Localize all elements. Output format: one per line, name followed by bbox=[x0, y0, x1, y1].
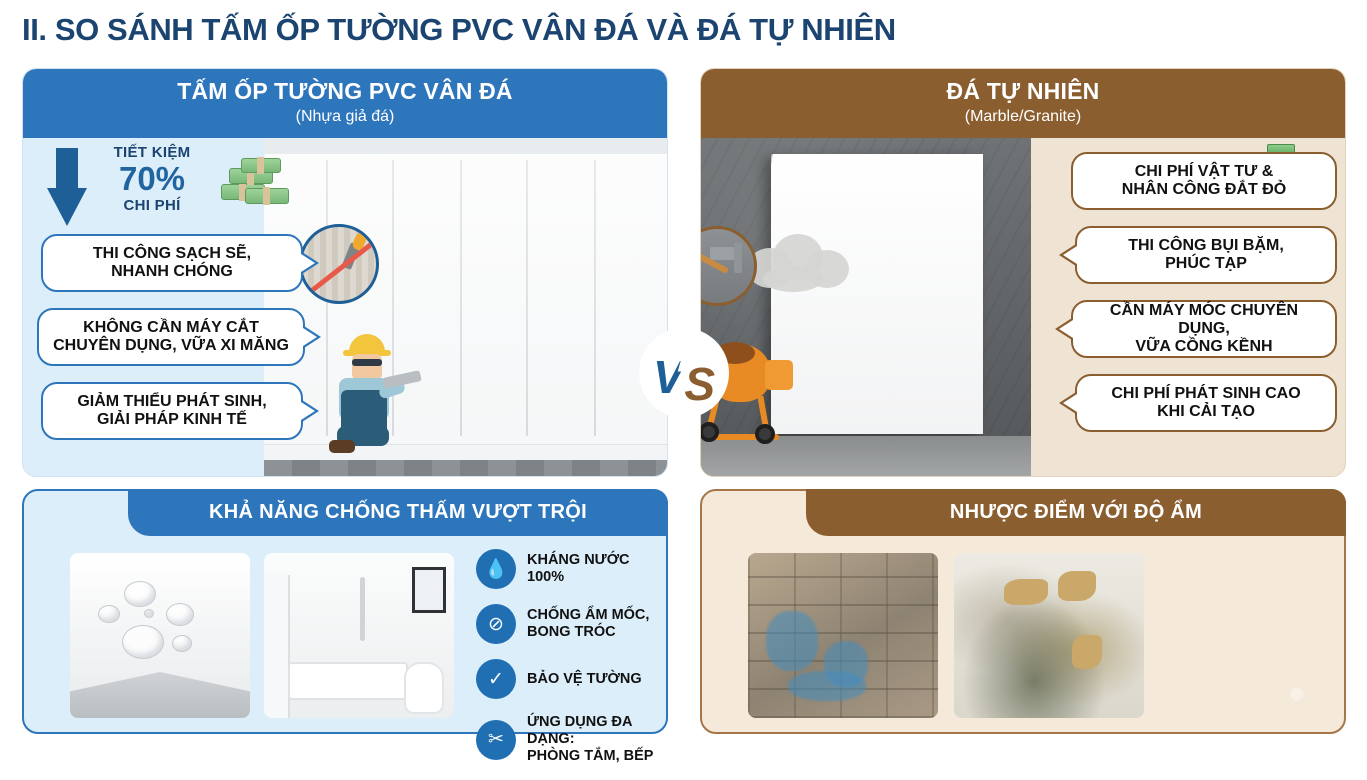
pvc-panel: TẤM ỐP TƯỜNG PVC VÂN ĐÁ (Nhựa giả đá) TI… bbox=[22, 68, 668, 477]
ceiling-strip bbox=[264, 138, 667, 154]
arrow-down-icon bbox=[47, 148, 87, 226]
pvc-bubble-3[interactable]: GIẢM THIỂU PHÁT SINH, GIẢI PHÁP KINH TẾ bbox=[41, 382, 303, 440]
feature-line1: KHÁNG NƯỚC 100% bbox=[527, 552, 666, 586]
pvc-bubble-3-line2: GIẢI PHÁP KINH TẾ bbox=[77, 411, 266, 429]
stone-bubble-4-line1: CHI PHÍ PHÁT SINH CAO bbox=[1111, 385, 1300, 403]
list-item[interactable]: ✂ ỨNG DỤNG ĐA DẠNG: PHÒNG TẮM, BẾP bbox=[476, 714, 666, 765]
vs-letter-s: S bbox=[684, 357, 715, 411]
anti-mold-icon: ⊘ bbox=[476, 604, 516, 644]
multi-use-icon: ✂ bbox=[476, 720, 516, 760]
pvc-bubble-2-line1: KHÔNG CẦN MÁY CẮT bbox=[53, 319, 289, 337]
worker-installing-icon bbox=[323, 334, 409, 454]
stone-header-subtitle: (Marble/Granite) bbox=[701, 106, 1345, 128]
stone-bubble-3[interactable]: CẦN MÁY MÓC CHUYÊN DỤNG, VỮA CỒNG KỀNH bbox=[1071, 300, 1337, 358]
marble-bathroom-photo bbox=[264, 553, 454, 718]
shield-check-icon: ✓ bbox=[476, 659, 516, 699]
stone-panel: ĐÁ TỰ NHIÊN (Marble/Granite) CH bbox=[700, 68, 1346, 477]
stone-bubble-4[interactable]: CHI PHÍ PHÁT SINH CAO KHI CẢI TẠO bbox=[1075, 374, 1337, 432]
list-item[interactable]: ✓ BẢO VỆ TƯỜNG bbox=[476, 659, 666, 699]
pvc-header-subtitle: (Nhựa giả đá) bbox=[23, 106, 667, 128]
stone-bubble-1-line2: NHÂN CÔNG ĐẮT ĐỎ bbox=[1122, 181, 1286, 199]
feature-line2: PHÒNG TẮM, BẾP bbox=[527, 748, 666, 765]
stone-bubble-1[interactable]: CHI PHÍ VẬT TƯ & NHÂN CÔNG ĐẮT ĐỎ bbox=[1071, 152, 1337, 210]
pvc-waterproof-panel: KHẢ NĂNG CHỐNG THẤM VƯỢT TRỘI 💧 KHÁNG NƯ… bbox=[22, 489, 668, 734]
efflorescence-brick-wall-photo bbox=[748, 553, 938, 718]
list-item[interactable]: ⊘ CHỐNG ẨM MỐC, BONG TRÓC bbox=[476, 604, 666, 644]
pvc-feature-list: 💧 KHÁNG NƯỚC 100% ⊘ CHỐNG ẨM MỐC, BONG T… bbox=[476, 549, 666, 780]
stone-moisture-panel: NHƯỢC ĐIỂM VỚI ĐỘ ẨM 💧 DỄ BỊ THẤM NƯỚC, … bbox=[700, 489, 1346, 734]
stone-bubble-3-line1: CẦN MÁY MÓC CHUYÊN DỤNG, bbox=[1083, 302, 1325, 338]
feature-line1: BẢO VỆ TƯỜNG bbox=[527, 671, 642, 688]
savings-label-bottom: CHI PHÍ bbox=[97, 197, 207, 214]
vs-letter-v: V bbox=[653, 350, 684, 404]
pvc-bubble-1-line2: NHANH CHÓNG bbox=[93, 263, 251, 281]
stone-band-title: NHƯỢC ĐIỂM VỚI ĐỘ ẨM bbox=[806, 489, 1346, 536]
panel-groove bbox=[526, 160, 528, 436]
feature-line2: BONG TRÓC bbox=[527, 624, 649, 641]
panel-groove bbox=[594, 160, 596, 436]
pvc-panel-body: TIẾT KIỆM 70% CHI PHÍ THI CÔNG SẠCH SẼ, … bbox=[23, 138, 667, 476]
stone-bubble-2-line1: THI CÔNG BỤI BẶM, bbox=[1128, 237, 1284, 255]
savings-label-top: TIẾT KIỆM bbox=[97, 144, 207, 161]
savings-percent: 70% bbox=[97, 161, 207, 197]
water-repellent-icon: 💧 bbox=[476, 549, 516, 589]
stone-bubble-4-line2: KHI CẢI TẠO bbox=[1111, 403, 1300, 421]
stone-bubble-2-line2: PHÚC TẠP bbox=[1128, 255, 1284, 273]
floor-strip bbox=[264, 460, 667, 477]
stone-header-title: ĐÁ TỰ NHIÊN bbox=[701, 76, 1345, 106]
stone-bubble-1-line1: CHI PHÍ VẬT TƯ & bbox=[1122, 163, 1286, 181]
pvc-bubble-1-line1: THI CÔNG SẠCH SẼ, bbox=[93, 245, 251, 263]
stone-panel-body: CHI PHÍ VẬT TƯ & NHÂN CÔNG ĐẮT ĐỎ THI CÔ… bbox=[701, 138, 1345, 476]
dust-cloud-icon bbox=[747, 230, 857, 296]
stone-bubble-3-line2: VỮA CỒNG KỀNH bbox=[1083, 338, 1325, 356]
list-item[interactable]: 💧 KHÁNG NƯỚC 100% bbox=[476, 549, 666, 589]
mold-damp-wall-photo bbox=[954, 553, 1144, 718]
pvc-panel-header: TẤM ỐP TƯỜNG PVC VÂN ĐÁ (Nhựa giả đá) bbox=[23, 69, 667, 138]
pvc-bubble-3-line1: GIẢM THIỂU PHÁT SINH, bbox=[77, 393, 266, 411]
feature-line1: ỨNG DỤNG ĐA DẠNG: bbox=[527, 714, 666, 748]
sparkle-watermark-icon bbox=[1274, 666, 1320, 722]
pvc-header-title: TẤM ỐP TƯỜNG PVC VÂN ĐÁ bbox=[23, 76, 667, 106]
feature-line1: CHỐNG ẨM MỐC, bbox=[527, 607, 649, 624]
marble-panel-water-drops-photo bbox=[70, 553, 250, 718]
pvc-bubble-2-line2: CHUYÊN DỤNG, VỮA XI MĂNG bbox=[53, 337, 289, 355]
pvc-bubble-1[interactable]: THI CÔNG SẠCH SẼ, NHANH CHÓNG bbox=[41, 234, 303, 292]
pvc-band-title: KHẢ NĂNG CHỐNG THẤM VƯỢT TRỘI bbox=[128, 489, 668, 536]
savings-block: TIẾT KIỆM 70% CHI PHÍ bbox=[41, 144, 301, 230]
panel-groove bbox=[460, 160, 462, 436]
page-title: II. SO SÁNH TẤM ỐP TƯỜNG PVC VÂN ĐÁ VÀ Đ… bbox=[22, 12, 896, 48]
stone-panel-header: ĐÁ TỰ NHIÊN (Marble/Granite) bbox=[701, 69, 1345, 138]
money-stack-icon bbox=[219, 158, 293, 214]
pvc-bubble-2[interactable]: KHÔNG CẦN MÁY CẮT CHUYÊN DỤNG, VỮA XI MĂ… bbox=[37, 308, 305, 366]
vs-badge: V S bbox=[641, 330, 727, 416]
stone-bubble-2[interactable]: THI CÔNG BỤI BẶM, PHÚC TẠP bbox=[1075, 226, 1337, 284]
